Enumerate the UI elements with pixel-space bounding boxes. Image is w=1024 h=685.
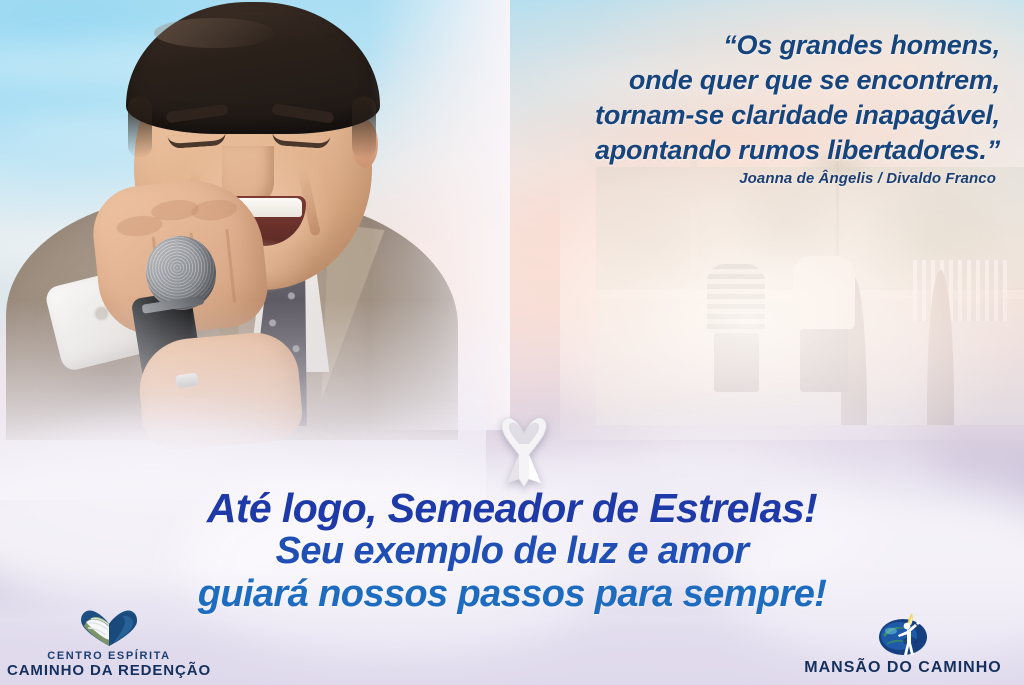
hand-holding-microphone-shape [136, 329, 305, 453]
quote-text: “Os grandes homens, onde quer que se enc… [310, 28, 1000, 168]
person-striped-shirt-icon [707, 264, 765, 392]
logo-mansao-do-caminho: MANSÃO DO CAMINHO [788, 611, 1018, 677]
logo-centro-espirita: CENTRO ESPÍRITA CAMINHO DA REDENÇÃO [4, 608, 214, 679]
person-white-shirt-icon [793, 256, 855, 392]
headline-line-2: Seu exemplo de luz e amor [0, 530, 1024, 572]
fence-shape [913, 260, 1007, 321]
quote-line-4: apontando rumos libertadores.” [310, 133, 1000, 168]
quote-attribution: Joanna de Ângelis / Divaldo Franco [306, 170, 996, 187]
globe-figure-icon [877, 611, 929, 657]
heart-hands-icon [78, 608, 140, 648]
logo-right-line-2: MANSÃO DO CAMINHO [788, 659, 1018, 677]
sideburn-left-shape [128, 96, 152, 158]
white-mourning-ribbon-icon [489, 409, 559, 487]
background-photo [596, 150, 1024, 425]
memorial-tribute-poster: “Os grandes homens, onde quer que se enc… [0, 0, 1024, 685]
logo-left-line-2: CAMINHO DA REDENÇÃO [4, 662, 214, 679]
logo-left-line-1: CENTRO ESPÍRITA [4, 650, 214, 662]
headline-line-1: Até logo, Semeador de Estrelas! [0, 486, 1024, 530]
cuff-button-shape [96, 308, 107, 319]
headline-text: Até logo, Semeador de Estrelas! Seu exem… [0, 486, 1024, 616]
quote-line-2: onde quer que se encontrem, [310, 63, 1000, 98]
quote-line-3: tornam-se claridade inapagável, [310, 98, 1000, 133]
quote-line-1: “Os grandes homens, [310, 28, 1000, 63]
